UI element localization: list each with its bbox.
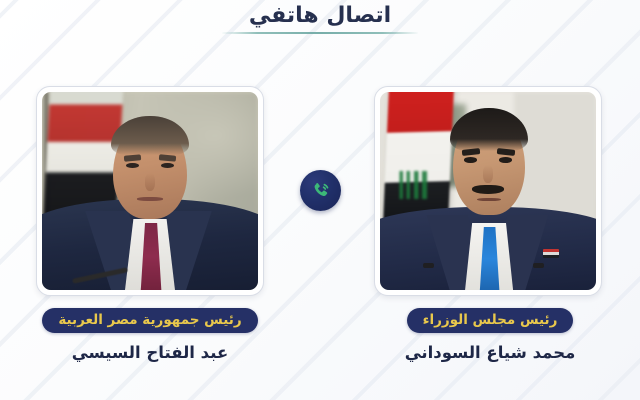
portrait-el-sisi [42, 92, 258, 290]
microphone-right [533, 263, 544, 268]
role-badge-al-sudani: رئيس مجلس الوزراء [407, 308, 574, 333]
caption-row: رئيس جمهورية مصر العربية عبد الفتاح السي… [0, 308, 640, 390]
flag-lapel-pin [543, 249, 559, 258]
portrait-card-el-sisi [36, 86, 264, 296]
caption-el-sisi: رئيس جمهورية مصر العربية عبد الفتاح السي… [0, 308, 300, 363]
eye-left [464, 157, 477, 163]
microphone-left [423, 263, 434, 268]
portrait-card-al-sudani [374, 86, 602, 296]
phone-call-badge [300, 170, 341, 211]
portrait-al-sudani [380, 92, 596, 290]
mouth [137, 197, 163, 201]
person-name-al-sudani: محمد شياع السوداني [340, 343, 640, 363]
person-name-el-sisi: عبد الفتاح السيسي [0, 343, 300, 363]
title-underline [222, 32, 418, 34]
role-badge-el-sisi: رئيس جمهورية مصر العربية [42, 308, 257, 333]
poster-canvas: اتصال هاتفي [0, 0, 640, 400]
eye-right [499, 157, 512, 163]
moustache [472, 185, 504, 194]
page-title: اتصال هاتفي [0, 3, 640, 29]
iraq-flag-script [397, 171, 440, 199]
phone-call-icon [309, 179, 333, 203]
caption-al-sudani: رئيس مجلس الوزراء محمد شياع السوداني [340, 308, 640, 363]
nose [483, 165, 494, 183]
nose [145, 173, 156, 191]
header: اتصال هاتفي [0, 0, 640, 46]
